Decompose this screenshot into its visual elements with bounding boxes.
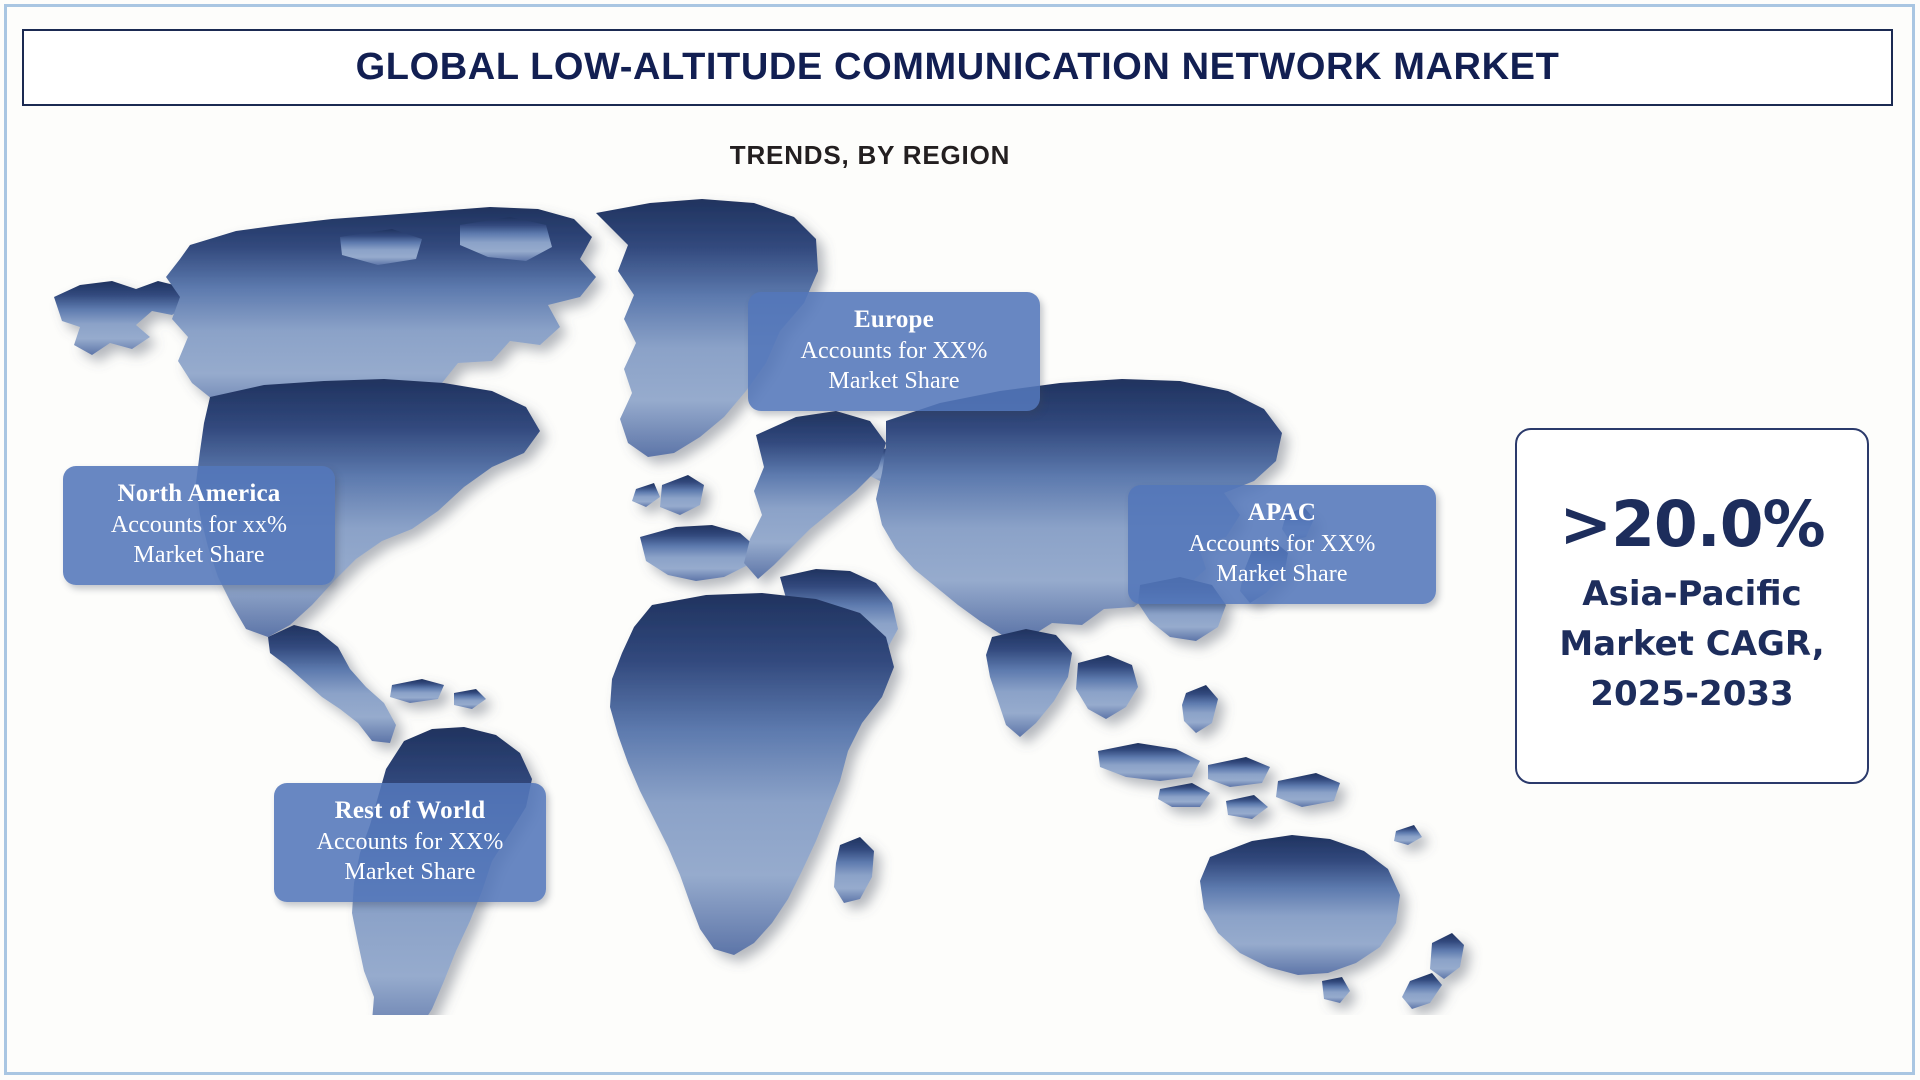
region-share-line: Accounts for XX% — [288, 828, 532, 858]
region-share-label: Market Share — [288, 858, 532, 888]
region-share-line: Accounts for XX% — [762, 337, 1026, 367]
cagr-stat-card: >20.0% Asia-Pacific Market CAGR, 2025-20… — [1515, 428, 1869, 784]
page-subtitle: TRENDS, BY REGION — [0, 140, 1740, 171]
region-title: Rest of World — [288, 795, 532, 826]
region-share-label: Market Share — [762, 367, 1026, 397]
cagr-caption-line-1: Asia-Pacific — [1559, 569, 1824, 619]
page-title: GLOBAL LOW-ALTITUDE COMMUNICATION NETWOR… — [356, 46, 1560, 89]
region-share-line: Accounts for XX% — [1142, 530, 1422, 560]
region-share-line: Accounts for xx% — [77, 511, 321, 541]
region-callout-europe[interactable]: Europe Accounts for XX% Market Share — [748, 292, 1040, 411]
infographic-page: GLOBAL LOW-ALTITUDE COMMUNICATION NETWOR… — [0, 0, 1920, 1080]
region-callout-north-america[interactable]: North America Accounts for xx% Market Sh… — [63, 466, 335, 585]
region-share-label: Market Share — [77, 541, 321, 571]
region-title: Europe — [762, 304, 1026, 335]
title-box: GLOBAL LOW-ALTITUDE COMMUNICATION NETWOR… — [22, 29, 1893, 106]
region-title: APAC — [1142, 497, 1422, 528]
region-share-label: Market Share — [1142, 560, 1422, 590]
region-callout-rest-of-world[interactable]: Rest of World Accounts for XX% Market Sh… — [274, 783, 546, 902]
region-callout-apac[interactable]: APAC Accounts for XX% Market Share — [1128, 485, 1436, 604]
cagr-caption-line-2: Market CAGR, — [1559, 619, 1824, 669]
cagr-caption-line-3: 2025-2033 — [1559, 669, 1824, 719]
cagr-caption: Asia-Pacific Market CAGR, 2025-2033 — [1559, 569, 1824, 720]
region-title: North America — [77, 478, 321, 509]
cagr-value: >20.0% — [1559, 492, 1824, 558]
